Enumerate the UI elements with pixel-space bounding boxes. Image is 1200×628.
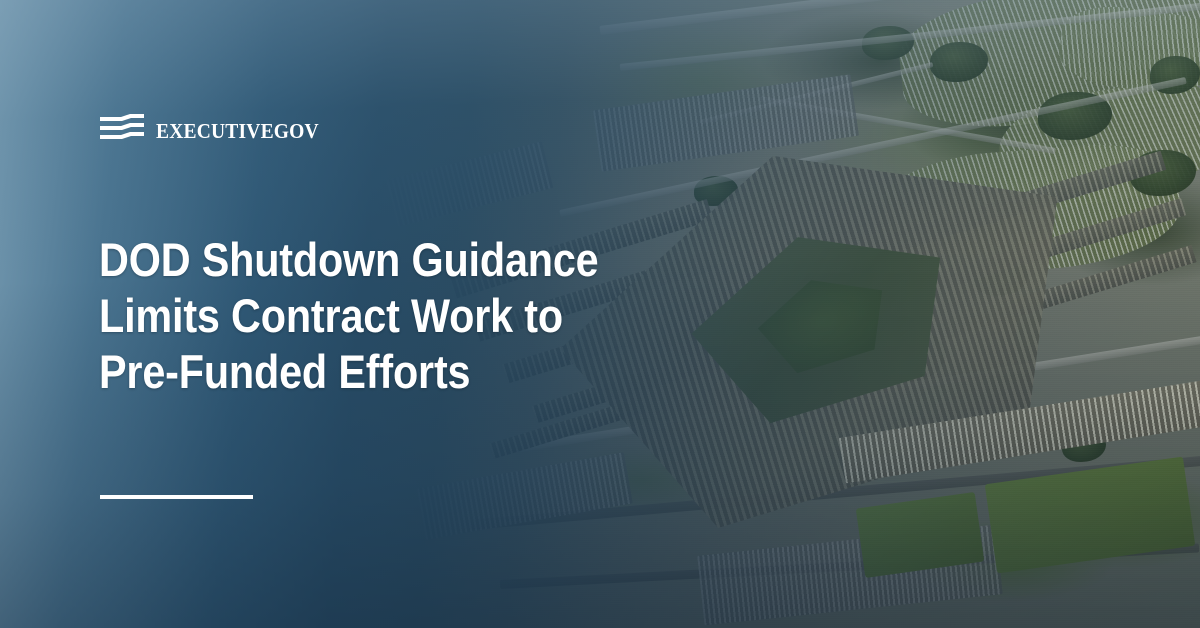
article-hero-card: ExecutiveGov DOD Shutdown Guidance Limit… — [0, 0, 1200, 628]
brand-wordmark: ExecutiveGov — [156, 114, 319, 144]
headline-line-2: Limits Contract Work to — [99, 288, 513, 344]
page-title: DOD Shutdown Guidance Limits Contract Wo… — [99, 232, 569, 400]
three-wavy-lines-icon — [99, 113, 145, 145]
headline-line-1: DOD Shutdown Guidance — [99, 232, 513, 288]
headline-divider-rule — [100, 495, 253, 499]
hero-content: ExecutiveGov DOD Shutdown Guidance Limit… — [0, 0, 1200, 628]
executivegov-logo[interactable]: ExecutiveGov — [99, 113, 331, 145]
headline-line-3: Pre-Funded Efforts — [99, 344, 513, 400]
